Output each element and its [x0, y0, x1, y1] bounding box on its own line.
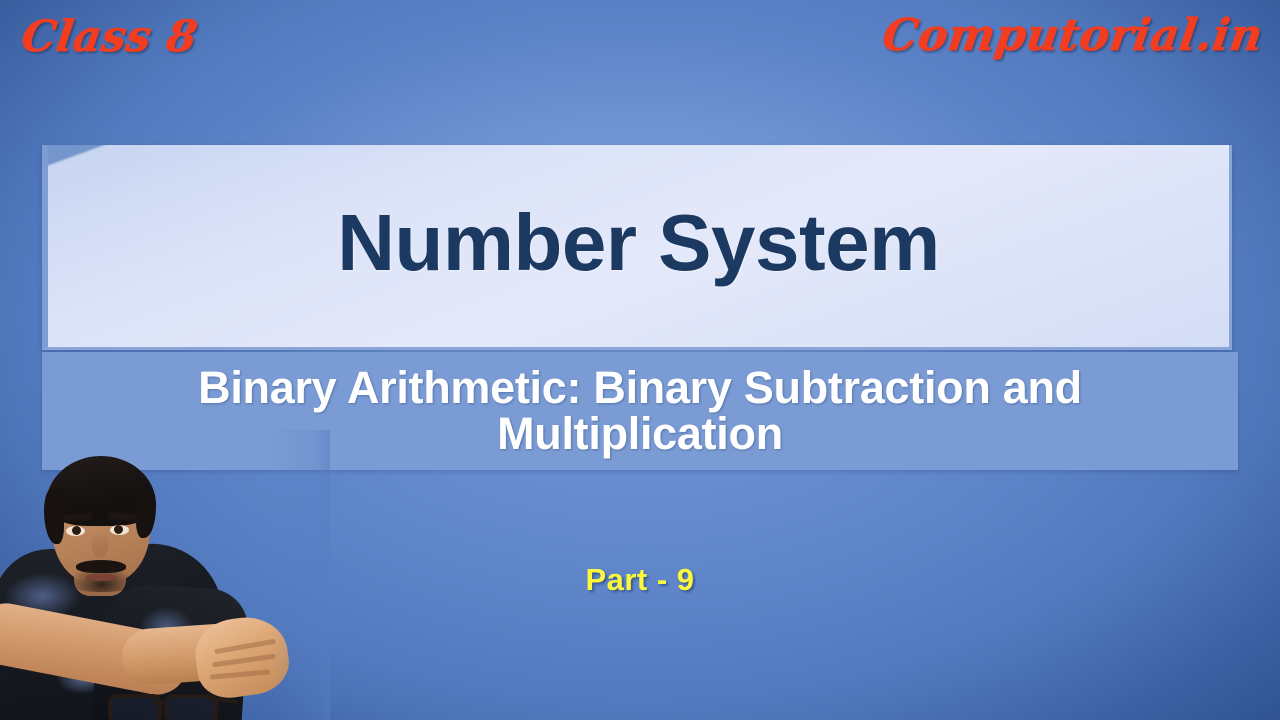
slide-canvas: Class 8 Computorial.in Number System Bin… — [0, 0, 1280, 720]
watermark-site-brand: Computorial.in — [879, 10, 1266, 61]
watermark-class-label: Class 8 — [18, 12, 200, 62]
part-number-label: Part - 9 — [0, 562, 1280, 598]
title-card: Number System — [42, 145, 1232, 350]
subtitle-band: Binary Arithmetic: Binary Subtraction an… — [42, 352, 1238, 470]
page-title: Number System — [337, 203, 940, 289]
subtitle-text: Binary Arithmetic: Binary Subtraction an… — [198, 365, 1082, 457]
